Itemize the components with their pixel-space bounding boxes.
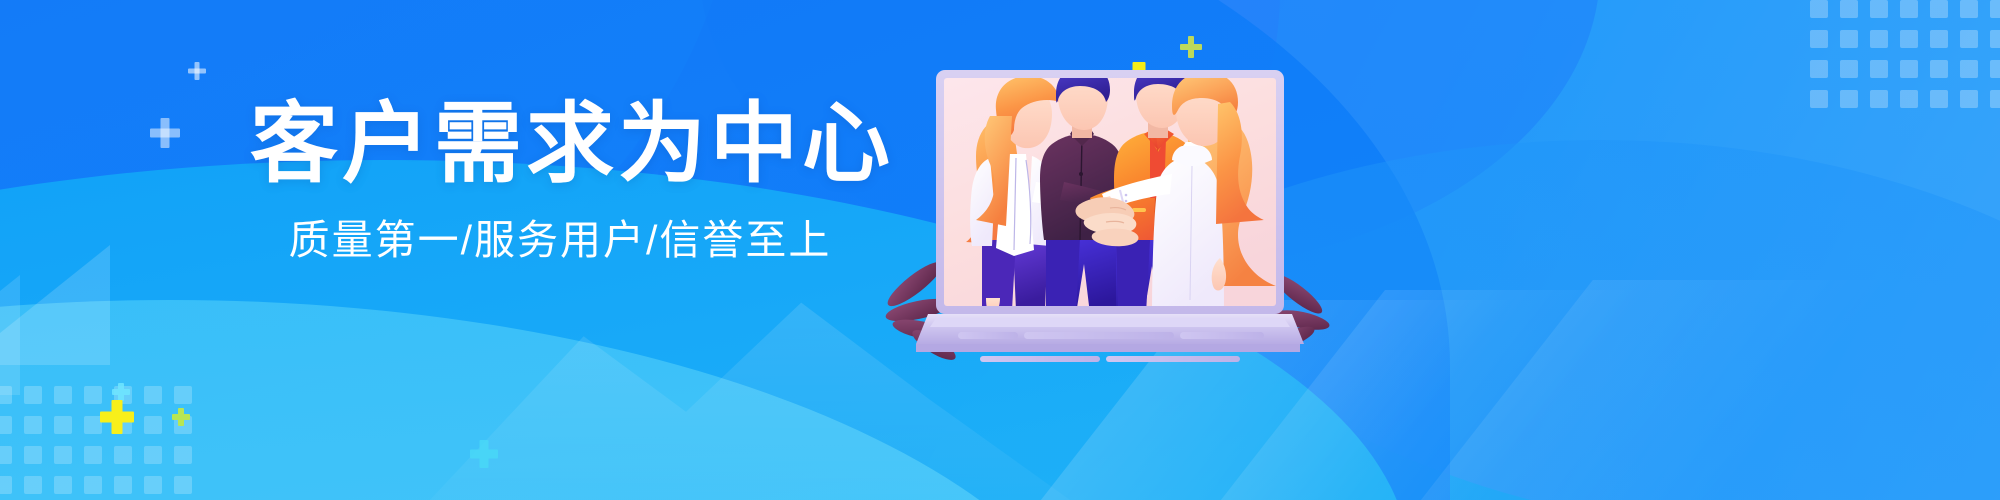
dot-grid-top-right	[1810, 0, 2000, 120]
cross-sparkle-yellow-icon	[100, 400, 134, 434]
banner-headline: 客户需求为中心	[250, 98, 870, 190]
laptop-screen	[936, 64, 1284, 314]
laptop-teamwork-illustration	[920, 62, 1300, 362]
cross-sparkle-green-icon	[172, 408, 190, 426]
laptop-illustration-svg	[920, 62, 1300, 362]
cross-sparkle-icon	[188, 62, 206, 80]
cross-sparkle-cyan-icon	[112, 383, 130, 401]
dot-grid-bottom-left	[0, 386, 204, 500]
cross-sparkle-icon	[150, 118, 180, 148]
chevron-shape-1	[0, 245, 110, 365]
cross-sparkle-cyan-icon	[470, 440, 498, 468]
chevron-shape-2	[0, 275, 20, 395]
banner-text-block: 客户需求为中心 质量第一/服务用户/信誉至上	[250, 98, 870, 266]
cross-sparkle-yellow-small-icon	[1180, 36, 1202, 58]
banner-subtitle: 质量第一/服务用户/信誉至上	[250, 216, 870, 265]
light-streak-3	[1327, 280, 1893, 500]
promotional-banner: 客户需求为中心 质量第一/服务用户/信誉至上	[0, 0, 2000, 500]
laptop-base	[916, 314, 1304, 362]
